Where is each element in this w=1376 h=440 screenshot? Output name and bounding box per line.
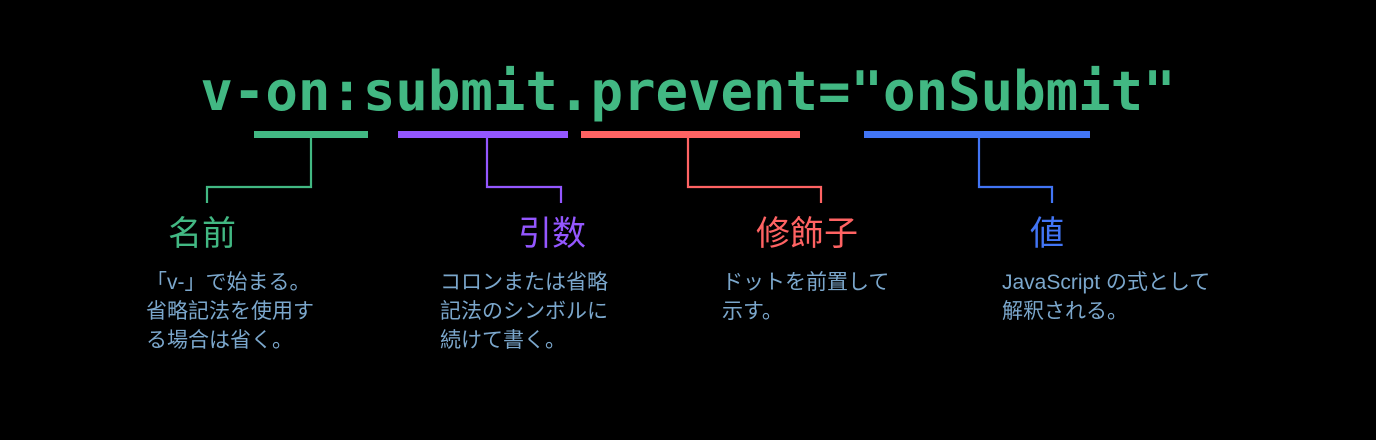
annotation-column-name: 名前 「v-」で始まる。 省略記法を使用す る場合は省く。: [146, 212, 376, 355]
annotation-column-argument: 引数 コロンまたは省略 記法のシンボルに 続けて書く。: [440, 212, 670, 355]
diagram-canvas: v-on:submit.prevent="onSubmit" 名前 「v-」で始…: [0, 0, 1376, 440]
connector-name: [207, 131, 368, 203]
annotation-title-name: 名前: [168, 212, 376, 256]
elbow-argument: [487, 138, 561, 203]
segment-underline-name: [254, 131, 368, 138]
annotation-title-argument: 引数: [518, 212, 670, 256]
connector-argument: [398, 131, 568, 203]
segment-underline-value: [864, 131, 1090, 138]
connector-value: [864, 131, 1090, 203]
connector-modifier: [581, 131, 821, 203]
annotation-title-modifier: 修飾子: [756, 212, 952, 256]
annotation-description-value: JavaScript の式として 解釈される。: [1002, 268, 1282, 326]
segment-underline-argument: [398, 131, 568, 138]
annotation-description-modifier: ドットを前置して 示す。: [722, 268, 952, 326]
code-expression: v-on:submit.prevent="onSubmit": [0, 62, 1376, 122]
elbow-modifier: [688, 138, 821, 203]
annotation-column-modifier: 修飾子 ドットを前置して 示す。: [722, 212, 952, 326]
annotation-description-argument: コロンまたは省略 記法のシンボルに 続けて書く。: [440, 268, 670, 355]
annotation-title-value: 値: [1030, 212, 1282, 256]
segment-underline-modifier: [581, 131, 800, 138]
elbow-value: [979, 138, 1052, 203]
annotation-description-name: 「v-」で始まる。 省略記法を使用す る場合は省く。: [146, 268, 376, 355]
elbow-name: [207, 138, 311, 203]
annotation-column-value: 値 JavaScript の式として 解釈される。: [1002, 212, 1282, 326]
